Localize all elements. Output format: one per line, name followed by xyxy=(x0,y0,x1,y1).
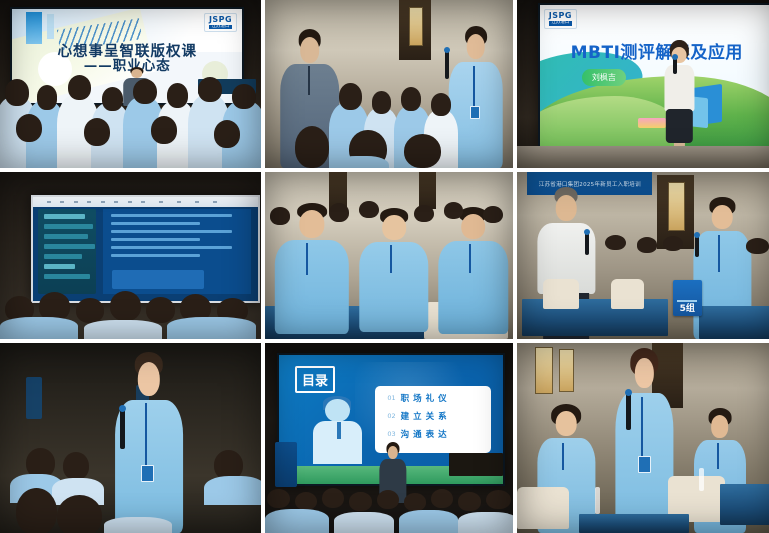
photo-panel-middle-center[interactable] xyxy=(265,172,513,339)
banner-text: 江苏省港口集团2025年新员工入职培训 xyxy=(539,180,641,188)
slide-mbti: MBTI测评解读及应用 刘枫吉 JSPG 江苏港口 xyxy=(540,5,769,146)
wall-lamp xyxy=(535,347,553,395)
roll-up-banner xyxy=(275,442,297,488)
conference-table xyxy=(699,306,769,339)
speaking-attendee-figure xyxy=(616,358,673,533)
microphone xyxy=(626,392,631,430)
projection-screen: MBTI测评解读及应用 刘枫吉 JSPG 江苏港口 xyxy=(538,3,769,148)
photo-panel-top-center[interactable] xyxy=(265,0,513,168)
agenda-heading: 目录 xyxy=(295,366,335,393)
agenda-item: 01 职场礼仪 xyxy=(387,392,491,404)
photo-collage-grid: 心想事呈智联版权课 ——职业心态 JSPG 江苏港口 xyxy=(0,0,769,525)
audience-crowd xyxy=(265,67,513,168)
table-sign-number: 5组 xyxy=(680,305,695,314)
illustration-person xyxy=(308,397,370,467)
photo-panel-top-left[interactable]: 心想事呈智联版权课 ——职业心态 JSPG 江苏港口 xyxy=(0,0,261,168)
side-table xyxy=(449,453,504,476)
slide-title: MBTI测评解读及应用 xyxy=(540,38,769,63)
agenda-item: 02 建立关系 xyxy=(387,410,491,422)
wall-lamp xyxy=(409,7,423,46)
conference-table xyxy=(720,484,769,526)
presenter-figure xyxy=(663,47,697,161)
photo-panel-middle-right[interactable]: 江苏省港口集团2025年新员工入职培训 xyxy=(517,172,769,339)
photo-panel-bottom-center[interactable]: 目录 01 职场礼仪 02 建立关系 xyxy=(265,343,513,533)
stage-floor xyxy=(517,146,769,168)
audience-crowd xyxy=(0,67,261,168)
presenter-name-pill: 刘枫吉 xyxy=(582,69,626,86)
audience-crowd xyxy=(265,484,513,533)
water-bottle xyxy=(699,468,704,491)
wall-lamp xyxy=(559,349,574,393)
audience-crowd xyxy=(0,282,261,339)
jspg-logo: JSPG 江苏港口 xyxy=(204,13,237,33)
photo-panel-middle-left[interactable] xyxy=(0,172,261,339)
wall-lamp xyxy=(668,182,686,231)
event-banner: 江苏省港口集团2025年新员工入职培训 xyxy=(527,172,652,195)
audience-crowd xyxy=(517,232,769,292)
water-bottle xyxy=(595,487,600,514)
photo-panel-bottom-left[interactable] xyxy=(0,343,261,533)
agenda-item: 03 沟通表达 xyxy=(387,428,491,440)
audience-crowd xyxy=(265,195,513,262)
photo-panel-top-right[interactable]: MBTI测评解读及应用 刘枫吉 JSPG 江苏港口 xyxy=(517,0,769,168)
audience-crowd xyxy=(0,434,261,533)
photo-panel-bottom-right[interactable] xyxy=(517,343,769,533)
conference-table xyxy=(579,514,688,533)
microphone xyxy=(673,57,677,74)
chair xyxy=(517,487,569,529)
jspg-logo: JSPG 江苏港口 xyxy=(544,9,577,29)
